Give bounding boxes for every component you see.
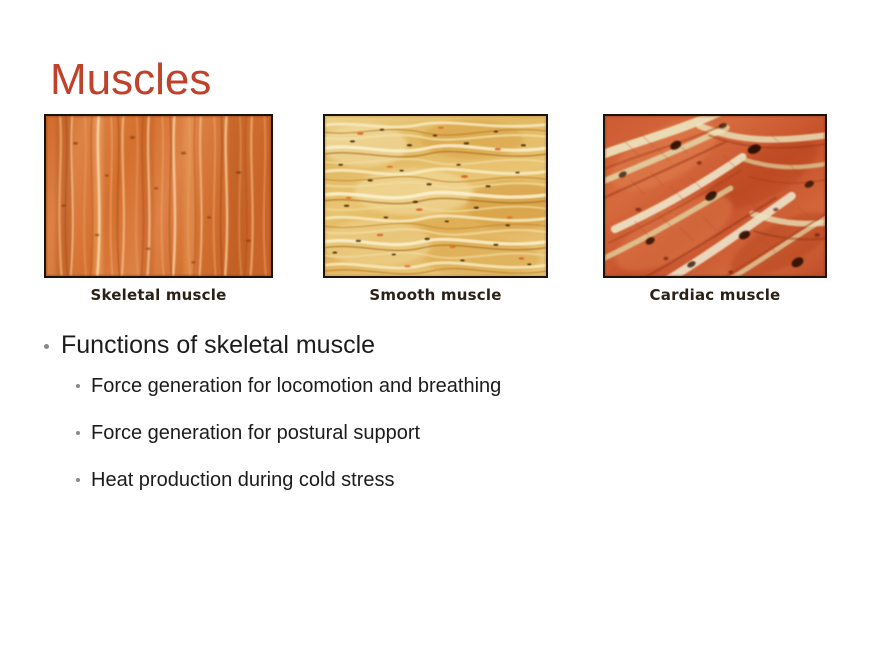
smooth-muscle-image bbox=[323, 114, 548, 278]
figure-skeletal-muscle: Skeletal muscle bbox=[44, 114, 273, 304]
bullet-level2-text: Force generation for locomotion and brea… bbox=[91, 374, 501, 399]
skeletal-muscle-image bbox=[44, 114, 273, 278]
bullet-level2-heat-production: Heat production during cold stress bbox=[76, 468, 844, 493]
bullet-level1-text: Functions of skeletal muscle bbox=[61, 330, 375, 360]
slide-title: Muscles bbox=[50, 54, 211, 106]
cardiac-muscle-image bbox=[603, 114, 827, 278]
bullet-dot-icon bbox=[76, 478, 80, 482]
bullet-level2-text: Force generation for postural support bbox=[91, 421, 420, 446]
figure-cardiac-muscle: Cardiac muscle bbox=[603, 114, 827, 304]
figure-caption-cardiac: Cardiac muscle bbox=[603, 286, 827, 304]
figure-caption-smooth: Smooth muscle bbox=[323, 286, 548, 304]
bullet-level2-force-locomotion: Force generation for locomotion and brea… bbox=[76, 374, 844, 399]
bullet-level2-force-postural: Force generation for postural support bbox=[76, 421, 844, 446]
bullet-list: Functions of skeletal muscle Force gener… bbox=[44, 330, 844, 493]
bullet-dot-icon bbox=[76, 384, 80, 388]
figure-row: Skeletal muscle bbox=[0, 114, 880, 314]
presentation-slide: Muscles bbox=[0, 0, 880, 660]
bullet-dot-icon bbox=[76, 431, 80, 435]
figure-caption-skeletal: Skeletal muscle bbox=[44, 286, 273, 304]
bullet-dot-icon bbox=[44, 344, 49, 349]
bullet-level1-functions: Functions of skeletal muscle bbox=[44, 330, 844, 360]
figure-smooth-muscle: Smooth muscle bbox=[323, 114, 548, 304]
bullet-level2-text: Heat production during cold stress bbox=[91, 468, 395, 493]
